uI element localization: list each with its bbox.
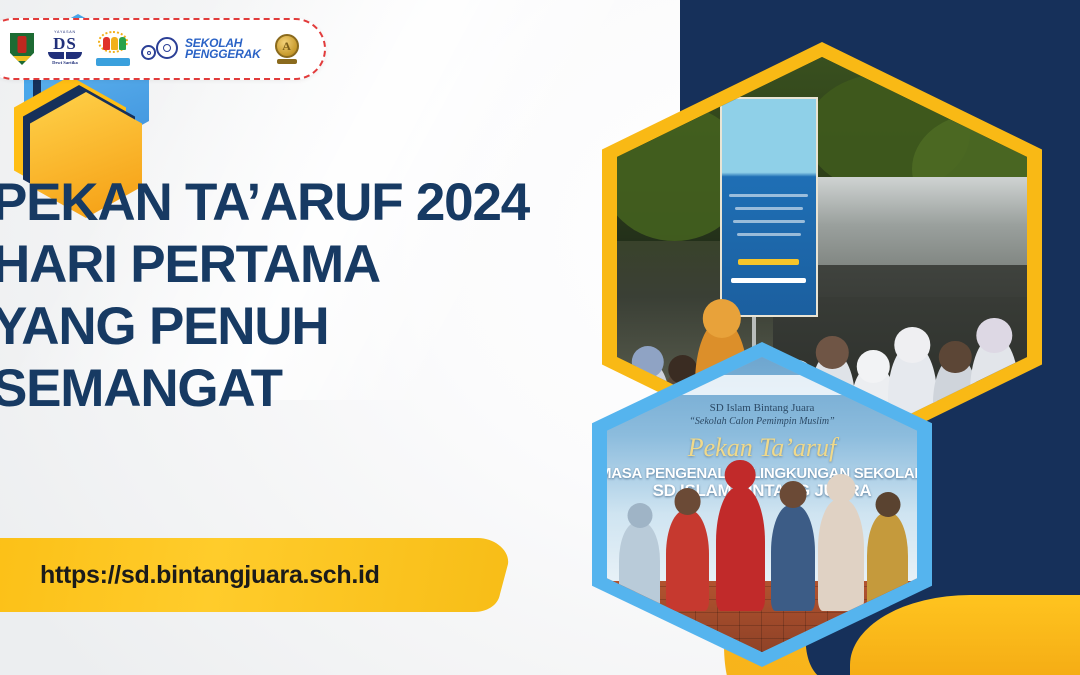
accreditation-badge: YAYASAN DS Dewi Sartika SEKOLAH PENGGERA…: [0, 18, 326, 80]
medal-grade: A: [275, 34, 299, 58]
gears-icon: [141, 34, 181, 64]
photo-image-stage: SD Islam Bintang Juara “Sekolah Calon Pe…: [607, 357, 917, 652]
ds-letters: DS: [45, 35, 85, 52]
banner-title: Pekan Ta’aruf: [688, 433, 837, 463]
headline-line-1: PEKAN TA’ARUF 2024: [0, 172, 640, 234]
penggerak-line2: PENGGERAK: [185, 49, 261, 60]
headline-block: PEKAN TA’ARUF 2024 HARI PERTAMA YANG PEN…: [0, 172, 640, 420]
regional-crest-logo-icon: [10, 33, 34, 65]
sekolah-penggerak-logo-icon: SEKOLAH PENGGERAK: [141, 34, 261, 64]
photo-stage-banner: SD Islam Bintang Juara “Sekolah Calon Pe…: [592, 342, 932, 667]
banner-tagline: “Sekolah Calon Pemimpin Muslim”: [689, 416, 834, 427]
headline-line-2: HARI PERTAMA: [0, 234, 640, 296]
ds-caption: Dewi Sartika: [45, 60, 85, 65]
website-url-text[interactable]: https://sd.bintangjuara.sch.id: [40, 561, 380, 590]
akreditasi-a-medal-icon: A: [272, 33, 302, 65]
photo-frame-blue: SD Islam Bintang Juara “Sekolah Calon Pe…: [592, 342, 932, 667]
dewi-sartika-logo-icon: YAYASAN DS Dewi Sartika: [45, 30, 85, 68]
website-url-banner[interactable]: https://sd.bintangjuara.sch.id: [0, 538, 510, 612]
banner-subtitle: MASA PENGENALAN LINGKUNGAN SEKOLAH: [607, 465, 917, 482]
banner-logo-strip: [675, 375, 849, 395]
banner-school-name: SD Islam Bintang Juara: [710, 402, 815, 414]
sekolah-sehat-logo-icon: [96, 30, 130, 68]
headline-line-4: SEMANGAT: [0, 358, 640, 420]
poster-canvas: SD Islam Bintang Juara “Sekolah Calon Pe…: [0, 0, 1080, 675]
headline-line-3: YANG PENUH: [0, 296, 640, 358]
